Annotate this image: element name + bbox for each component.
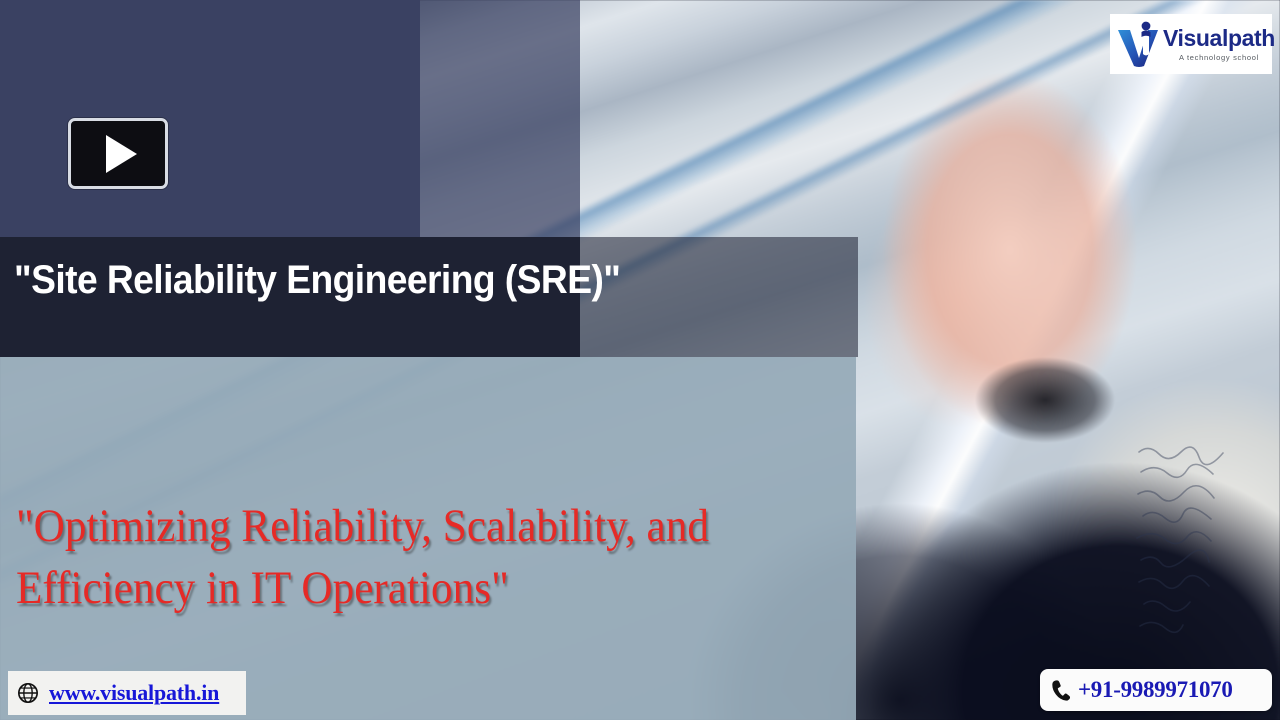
phone-number[interactable]: +91-9989971070 — [1078, 677, 1233, 703]
visualpath-logo: Visualpath A technology school — [1110, 14, 1272, 74]
top-middle-overlay-panel — [420, 0, 580, 237]
website-badge[interactable]: www.visualpath.in — [8, 671, 246, 715]
visualpath-v-mark-icon — [1116, 20, 1162, 68]
play-button[interactable] — [68, 118, 168, 189]
top-left-panel — [0, 0, 420, 237]
website-link[interactable]: www.visualpath.in — [49, 680, 219, 706]
subtitle-line-2: Efficiency in IT Operations" — [16, 557, 770, 619]
globe-icon — [17, 682, 39, 704]
logo-tagline: A technology school — [1163, 53, 1275, 62]
subtitle-line-1: "Optimizing Reliability, Scalability, an… — [16, 495, 770, 557]
phone-badge[interactable]: +91-9989971070 — [1040, 669, 1272, 711]
phone-icon — [1050, 679, 1070, 701]
page-title: "Site Reliability Engineering (SRE)" — [14, 258, 814, 303]
logo-name: Visualpath — [1163, 27, 1275, 50]
presentation-slide: Visualpath A technology school "Site Rel… — [0, 0, 1280, 720]
play-icon — [106, 135, 137, 173]
subtitle: "Optimizing Reliability, Scalability, an… — [16, 495, 770, 619]
